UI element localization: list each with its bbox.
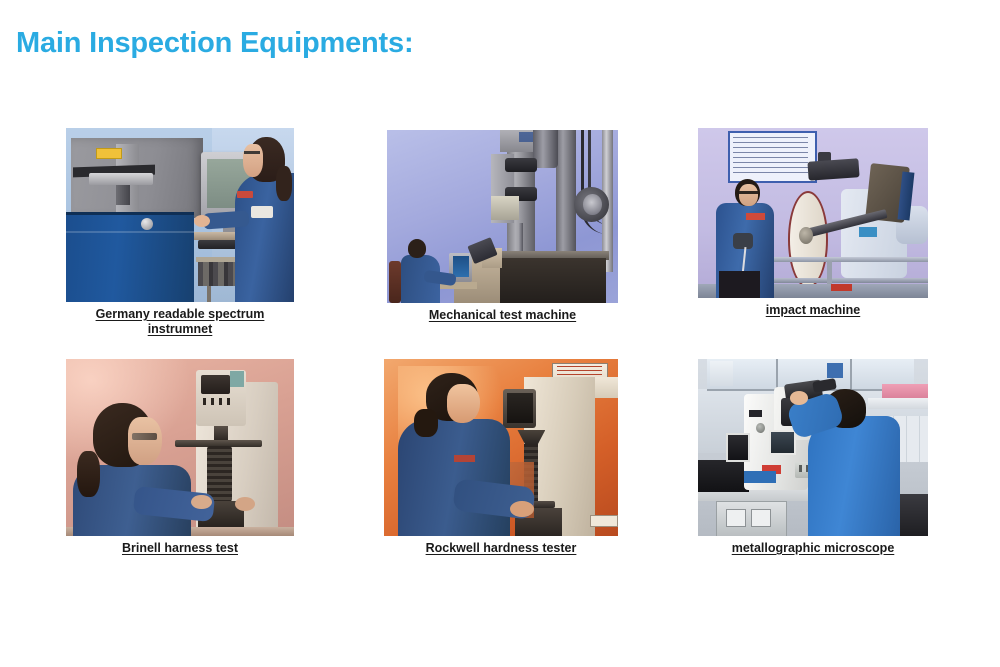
technician-face (739, 184, 757, 206)
bellows-column (207, 446, 232, 503)
technician-hand (194, 215, 210, 227)
machine-display-screen (507, 393, 533, 423)
warning-sticker (831, 284, 852, 291)
film-holder (726, 433, 751, 462)
window-mullion-2 (850, 359, 852, 389)
machine-side-panel (230, 371, 244, 387)
cabinet-latch (141, 218, 153, 230)
uniform-logo (454, 455, 475, 462)
technician-trousers (719, 271, 760, 298)
technician-body (398, 419, 510, 536)
machine-tag (590, 515, 618, 528)
caption-line-1: metallographic microscope (732, 541, 895, 555)
equipment-card-rockwell-hardness-tester[interactable]: Rockwell hardness tester (384, 359, 618, 556)
technician-ponytail (77, 451, 100, 497)
equipment-photo-rockwell-hardness-tester[interactable] (384, 359, 618, 536)
spectrometer-blue-cabinet (66, 212, 194, 302)
panel-gauge-2 (751, 509, 771, 527)
equipment-caption-rockwell-hardness-tester: Rockwell hardness tester (384, 541, 618, 556)
slide-canvas: Main Inspection Equipments: (0, 0, 1000, 667)
technician-body (808, 416, 900, 536)
equipment-photo-mechanical-test-machine[interactable] (387, 130, 618, 303)
indenter-spindle (214, 426, 228, 440)
machine-label-blue (744, 471, 776, 483)
technician-ponytail (414, 409, 437, 437)
operator-chair (389, 261, 401, 303)
handheld-controller (733, 233, 754, 248)
technician-glasses (244, 151, 260, 154)
page-title: Main Inspection Equipments: (16, 27, 413, 60)
technician-face (243, 144, 264, 177)
caption-line-1: impact machine (766, 303, 860, 317)
caption-line-1: Germany readable spectrum (96, 307, 265, 321)
caption-line-1: Mechanical test machine (429, 308, 576, 322)
microscope-slot (749, 410, 763, 417)
uniform-logo (746, 213, 764, 220)
cabinet-seam (66, 231, 194, 233)
window-mullion-1 (776, 359, 778, 389)
equipment-caption-germany-spectrum-instrument: Germany readable spectrum instrumnet (66, 307, 294, 337)
window-curtain (710, 361, 733, 386)
caption-line-2: instrumnet (148, 322, 213, 336)
machine-buttons (203, 398, 230, 405)
equipment-card-mechanical-test-machine[interactable]: Mechanical test machine (387, 130, 618, 323)
technician-hand (510, 501, 533, 517)
caption-line-1: Brinell harness test (122, 541, 238, 555)
equipment-caption-brinell-harness-test: Brinell harness test (66, 541, 294, 556)
spectrometer-clamp (116, 185, 130, 204)
panel-gauge-1 (726, 509, 746, 527)
equipment-caption-metallographic-microscope: metallographic microscope (698, 541, 928, 556)
safety-rail-post-2 (827, 261, 832, 285)
equipment-card-impact-machine[interactable]: impact machine (698, 128, 928, 318)
desk-leg (207, 286, 211, 302)
machine-base (491, 258, 607, 303)
equipment-caption-mechanical-test-machine: Mechanical test machine (387, 308, 618, 323)
technician-glasses (739, 191, 757, 194)
technician-face (128, 417, 162, 465)
wall-notice (827, 363, 843, 379)
equipment-card-metallographic-microscope[interactable]: metallographic microscope (698, 359, 928, 556)
technician-ponytail (276, 166, 292, 201)
equipment-card-germany-spectrum-instrument[interactable]: Germany readable spectrum instrumnet (66, 128, 294, 337)
equipment-card-brinell-harness-test[interactable]: Brinell harness test (66, 359, 294, 556)
technician-face (447, 384, 480, 423)
machine-nameplate (519, 132, 533, 142)
microscope-screen (769, 430, 796, 455)
equipment-photo-germany-spectrum-instrument[interactable] (66, 128, 294, 302)
machine-upper-bracket (808, 159, 860, 181)
machine-label-blue (859, 227, 877, 237)
caption-line-1: Rockwell hardness tester (426, 541, 577, 555)
bench-black-mat (698, 460, 749, 492)
pull-rod (519, 223, 524, 254)
warning-label (96, 148, 122, 159)
uniform-logo (237, 191, 253, 198)
operator-monitor-screen (453, 256, 469, 277)
spectrometer-arm (89, 173, 153, 185)
side-counter (868, 398, 928, 409)
machine-display (201, 375, 231, 394)
equipment-photo-impact-machine[interactable] (698, 128, 928, 298)
operator-head (408, 239, 426, 258)
equipment-caption-impact-machine: impact machine (698, 303, 928, 318)
wall-board-text (733, 137, 809, 174)
technician-glasses (132, 433, 157, 440)
focus-knob (756, 423, 765, 434)
equipment-photo-metallographic-microscope[interactable] (698, 359, 928, 536)
uniform-patch (251, 206, 274, 218)
equipment-photo-brinell-harness-test[interactable] (66, 359, 294, 536)
dial-hub (799, 227, 813, 244)
upper-grip (505, 158, 537, 172)
drive-wheel-hub (583, 194, 601, 215)
specimen-plate (491, 196, 519, 220)
